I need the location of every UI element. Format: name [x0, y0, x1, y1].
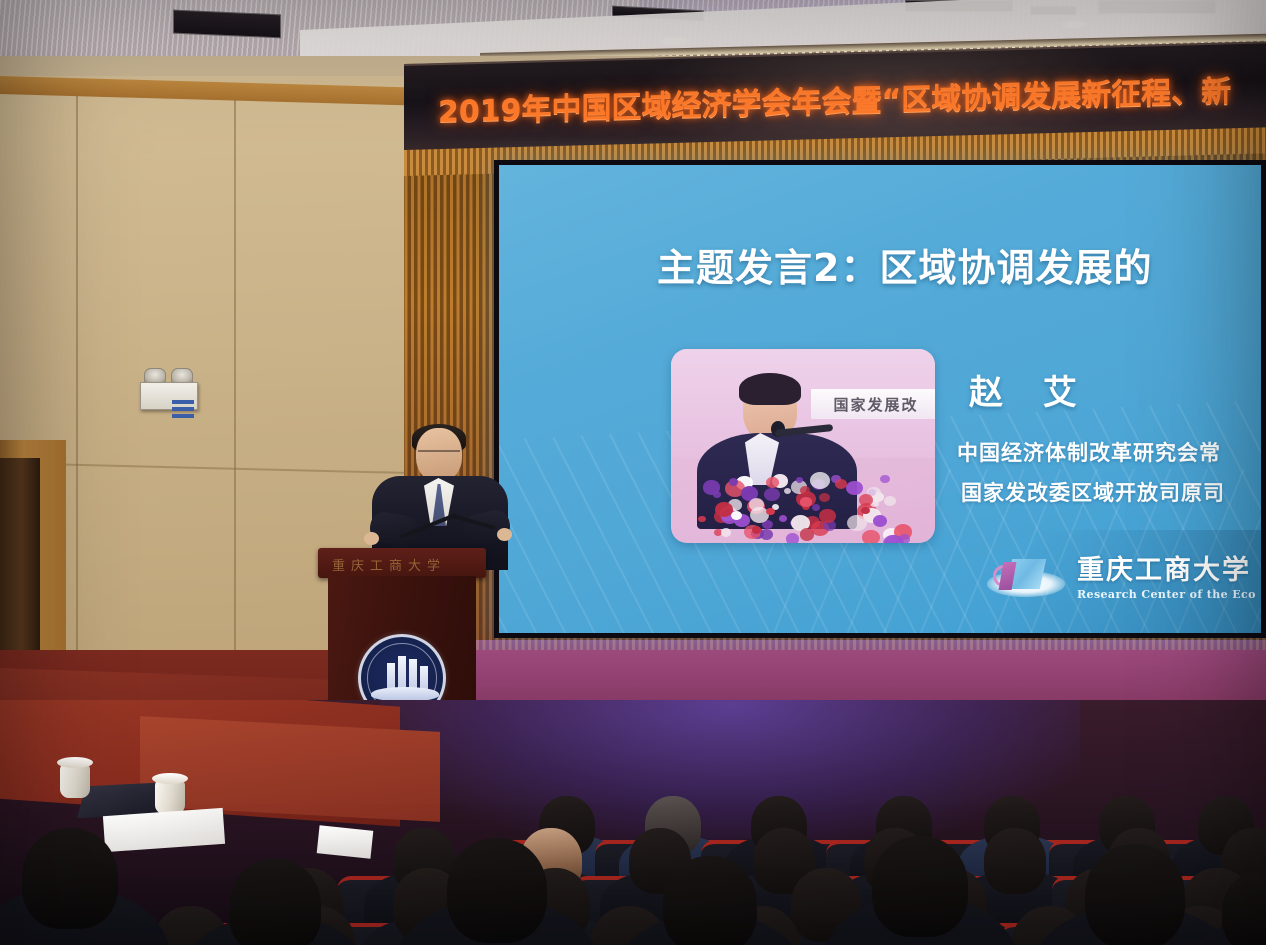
flower-blossom — [698, 516, 705, 522]
led-screen-bezel: 主题发言2：区域协调发展的 国家发展改 赵 艾 中国经济体制改革研究会常 国家发… — [494, 160, 1266, 638]
presenter-left-hand — [364, 532, 379, 545]
audience-member-head — [984, 828, 1046, 894]
wall-panel-seam — [234, 100, 236, 696]
flower-blossom — [749, 498, 764, 511]
ceiling-vent — [173, 10, 281, 39]
foreground-audience-head — [872, 836, 968, 937]
slide-title: 主题发言2：区域协调发展的 — [657, 237, 1152, 292]
flower-blossom — [899, 534, 910, 543]
lectern-engraved-text: 重庆工商大学 — [332, 555, 446, 574]
teacup — [60, 764, 90, 798]
flower-blossom — [703, 480, 720, 494]
flower-blossom — [764, 488, 780, 501]
audience-area — [0, 700, 1266, 945]
foreground-audience-head — [1085, 844, 1186, 945]
flower-blossom — [847, 515, 867, 532]
emergency-light-labels — [172, 400, 194, 421]
photo-banner-text-box: 国家发展改 — [811, 389, 935, 419]
flower-blossom — [859, 494, 873, 506]
conference-hall-photo: 2019年中国区域经济学会年会暨“区域协调发展新征程、新 主题发言2：区域协调发… — [0, 0, 1266, 945]
flower-blossom — [721, 528, 732, 537]
presenter-right-hand — [497, 528, 512, 541]
presenter — [380, 428, 500, 568]
flower-blossom — [760, 529, 773, 540]
photo-banner-text: 国家发展改 — [833, 394, 918, 415]
flower-blossom — [731, 511, 742, 520]
flower-blossom — [812, 504, 820, 511]
logo-text-english: Research Center of the Eco — [1077, 588, 1256, 601]
flower-blossom — [819, 509, 835, 523]
flower-blossom — [846, 481, 862, 495]
wall-panel-seam — [76, 96, 78, 696]
lectern-top-surface: 重庆工商大学 — [318, 548, 486, 578]
flower-blossom — [862, 530, 879, 543]
label-stripe — [172, 414, 194, 418]
crest-pillar — [387, 663, 395, 689]
flower-blossom — [810, 472, 830, 489]
emergency-light-icon — [140, 368, 198, 410]
label-stripe — [172, 400, 194, 404]
foreground-audience-head — [22, 828, 118, 929]
flower-blossom — [861, 507, 870, 515]
slide-organizer-logo: 重庆工商大学 Research Center of the Eco — [987, 557, 1256, 601]
flower-blossom — [880, 475, 889, 483]
flower-blossom — [819, 493, 830, 503]
photo-person-hair — [739, 373, 801, 405]
flower-blossom — [800, 497, 811, 507]
logo-text-chinese: 重庆工商大学 — [1077, 557, 1256, 585]
front-row-table-secondary — [140, 716, 440, 822]
slide-speaker-name: 赵 艾 — [969, 365, 1091, 414]
photo-flower-arrangement — [695, 465, 911, 543]
crest-wave — [371, 687, 439, 701]
wall-top-trim — [0, 76, 404, 105]
label-stripe — [172, 407, 194, 411]
flower-blossom — [884, 496, 897, 507]
flower-blossom — [729, 478, 738, 486]
foreground-audience-head — [447, 838, 548, 944]
foreground-audience-head — [663, 856, 757, 945]
logo-text-block: 重庆工商大学 Research Center of the Eco — [1077, 557, 1256, 600]
crest-pillar — [398, 656, 406, 689]
flower-blossom — [779, 515, 788, 522]
presenter-glasses — [418, 450, 460, 458]
crest-pillar — [409, 659, 417, 689]
slide-speaker-photo: 国家发展改 — [671, 349, 935, 543]
teacup — [155, 780, 185, 814]
flower-blossom — [873, 515, 887, 527]
crest-pillar — [420, 666, 428, 689]
presentation-slide: 主题发言2：区域协调发展的 国家发展改 赵 艾 中国经济体制改革研究会常 国家发… — [499, 165, 1261, 633]
slide-affiliation-line-1: 中国经济体制改革研究会常 — [957, 437, 1221, 467]
flower-blossom — [786, 533, 800, 543]
emergency-light-body — [140, 382, 198, 410]
audience-papers — [317, 825, 374, 858]
foreground-audience-head — [229, 859, 320, 945]
flower-blossom — [835, 479, 847, 489]
flower-blossom — [766, 508, 775, 516]
flower-blossom — [784, 488, 791, 494]
slide-affiliation-line-2: 国家发改委区域开放司原司 — [961, 477, 1225, 507]
university-logo-mark-icon — [987, 557, 1065, 601]
audience-stage-glow — [380, 700, 1080, 840]
